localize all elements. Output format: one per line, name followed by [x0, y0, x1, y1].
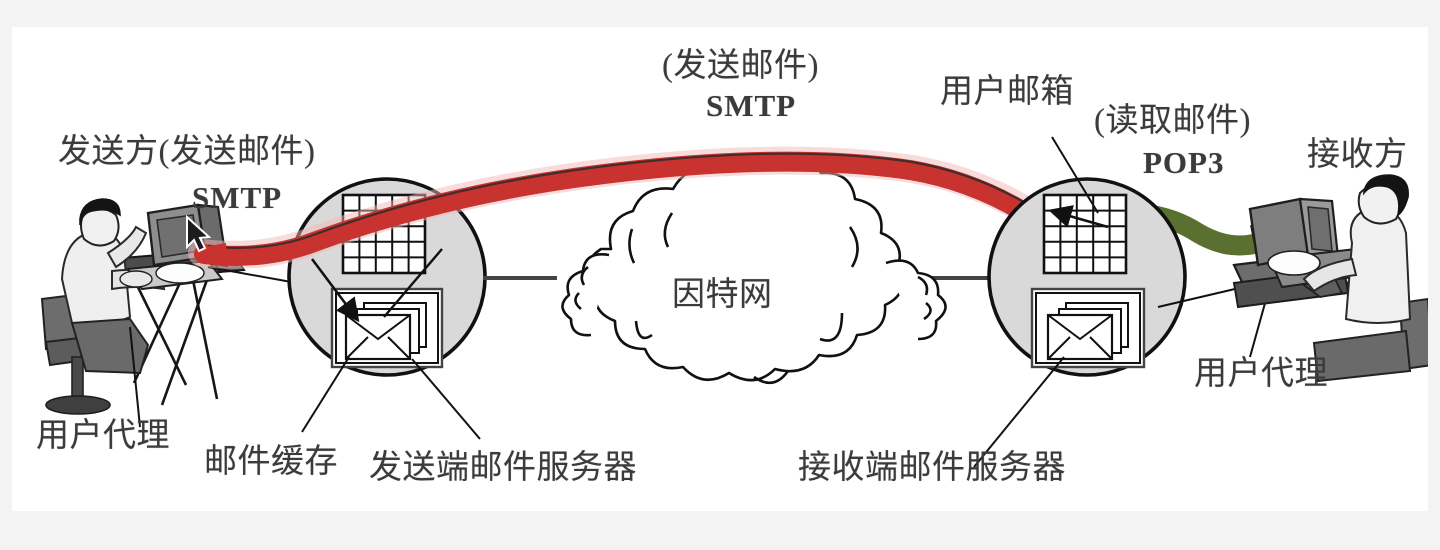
leader-mail-buffer	[302, 357, 349, 432]
workstation-icon-left	[42, 199, 244, 414]
diagram-canvas: 发送方(发送邮件) SMTP (发送邮件) SMTP 用户邮箱 (读取邮件) P…	[12, 27, 1428, 511]
label-user-agent-right: 用户代理	[1194, 357, 1328, 392]
cloud-icon	[562, 155, 945, 383]
label-sender: 发送方(发送邮件)	[58, 135, 315, 170]
label-receiving-mail-server: 接收端邮件服务器	[798, 451, 1066, 486]
label-mail-buffer: 邮件缓存	[204, 445, 338, 480]
label-sending-mail-server: 发送端邮件服务器	[369, 451, 637, 486]
label-sender-protocol: SMTP	[192, 182, 282, 215]
label-read-action: (读取邮件)	[1094, 104, 1251, 139]
label-user-agent-left: 用户代理	[36, 419, 170, 454]
label-read-protocol: POP3	[1143, 147, 1225, 180]
label-transfer-protocol: SMTP	[706, 90, 796, 123]
label-receiver: 接收方	[1307, 138, 1408, 173]
label-transfer-action: (发送邮件)	[662, 49, 819, 84]
label-internet-cloud: 因特网	[672, 278, 773, 313]
leader-sending-server	[412, 359, 480, 439]
screenshot-frame: 发送方(发送邮件) SMTP (发送邮件) SMTP 用户邮箱 (读取邮件) P…	[0, 0, 1440, 550]
envelope-stack-icon-right	[1032, 289, 1144, 367]
envelope-stack-icon-left	[332, 289, 442, 367]
receiving-mail-server	[989, 179, 1185, 375]
label-user-mailbox: 用户邮箱	[940, 75, 1074, 110]
workstation-icon-right	[1234, 175, 1428, 381]
mailbox-grid-icon-right	[1044, 195, 1126, 273]
